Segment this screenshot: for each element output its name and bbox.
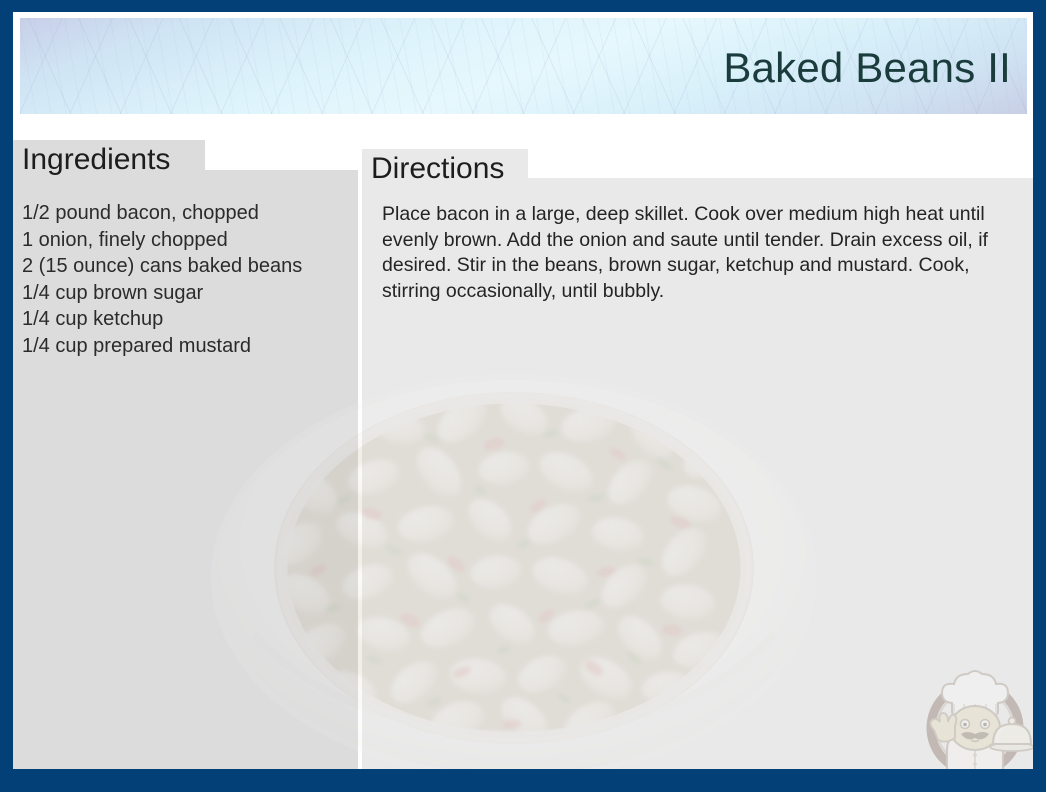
ingredients-list: 1/2 pound bacon, chopped 1 onion, finely… xyxy=(22,200,302,360)
tab-directions[interactable]: Directions xyxy=(362,149,528,187)
list-item: 1/2 pound bacon, chopped xyxy=(22,200,302,227)
tab-directions-label: Directions xyxy=(371,151,504,187)
tab-ingredients-label: Ingredients xyxy=(22,142,170,178)
list-item: 1/4 cup prepared mustard xyxy=(22,333,302,360)
list-item: 1 onion, finely chopped xyxy=(22,227,302,254)
page-title: Baked Beans II xyxy=(723,44,1011,92)
list-item: 1/4 cup ketchup xyxy=(22,306,302,333)
tab-ingredients[interactable]: Ingredients xyxy=(13,140,205,178)
list-item: 2 (15 ounce) cans baked beans xyxy=(22,253,302,280)
directions-panel: Place bacon in a large, deep skillet. Co… xyxy=(362,178,1033,769)
ingredients-panel: 1/2 pound bacon, chopped 1 onion, finely… xyxy=(13,170,358,769)
directions-text: Place bacon in a large, deep skillet. Co… xyxy=(382,202,1012,304)
header-banner: Baked Beans II xyxy=(20,18,1027,114)
recipe-card: Baked Beans II 1/2 pound bacon, chopped … xyxy=(13,12,1033,769)
list-item: 1/4 cup brown sugar xyxy=(22,280,302,307)
